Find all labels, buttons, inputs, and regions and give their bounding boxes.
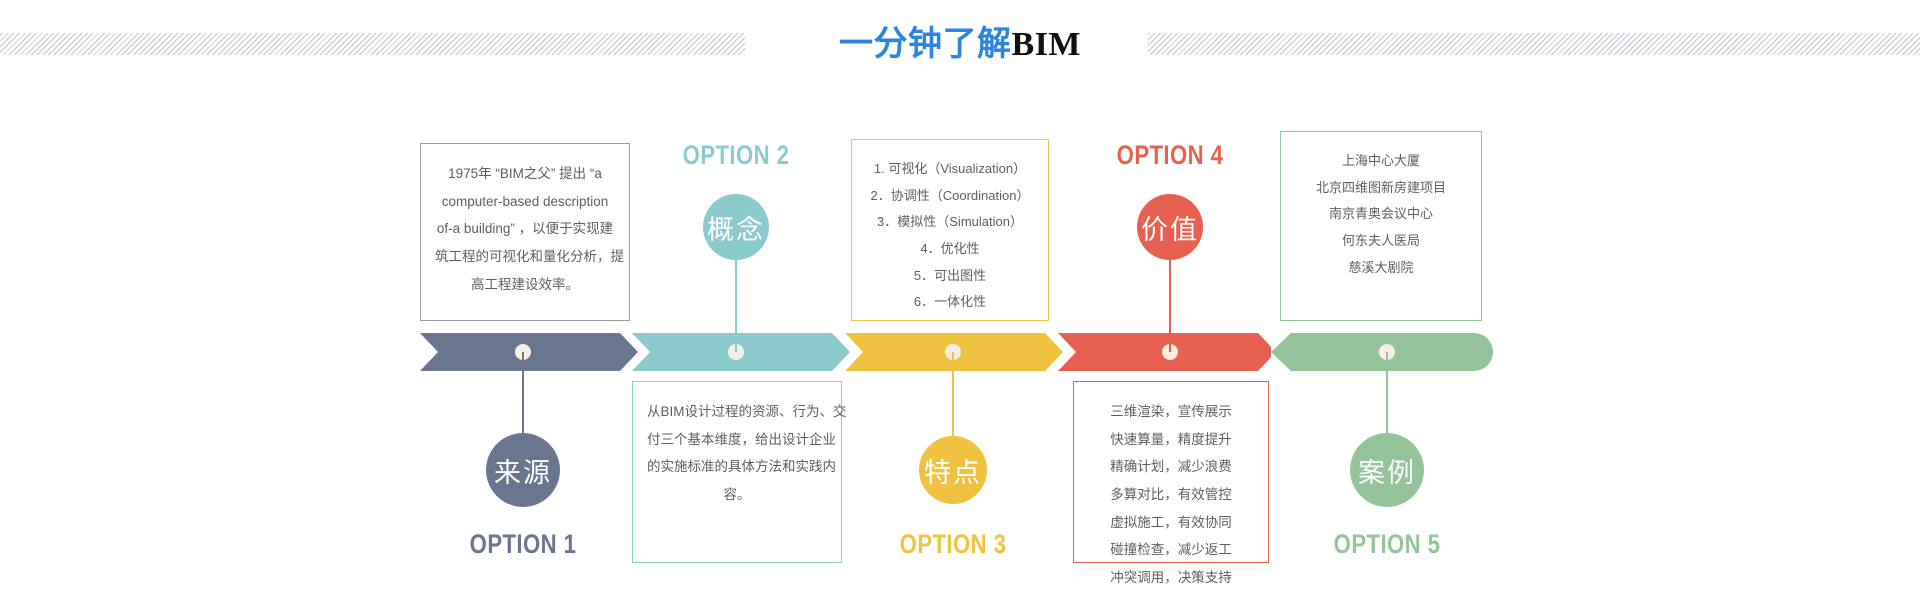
connector-line-4	[1169, 260, 1171, 352]
content-box-step-4: 三维渲染，宣传展示快速算量，精度提升精确计划，减少浪费多算对比，有效管控虚拟施工…	[1073, 381, 1269, 563]
connector-line-5	[1386, 352, 1388, 433]
connector-line-3	[952, 352, 954, 436]
content-line: 3．模拟性（Simulation）	[866, 209, 1034, 236]
content-line: 高工程建设效率。	[435, 271, 615, 299]
content-line: 的实施标准的具体方法和实践内	[647, 453, 827, 481]
page-title-cn: 一分钟了解	[839, 26, 1012, 63]
content-line: 南京青奥会议中心	[1295, 201, 1467, 228]
timeline-band	[0, 333, 1920, 371]
content-line: 慈溪大剧院	[1295, 255, 1467, 282]
option-label-1: OPTION 1	[433, 529, 613, 560]
content-line: 容。	[647, 481, 827, 509]
content-line: of-a building” ，以便于实现建	[435, 215, 615, 243]
content-line: 上海中心大厦	[1295, 148, 1467, 175]
content-line: 5．可出图性	[866, 263, 1034, 290]
content-line: 2．协调性（Coordination）	[866, 183, 1034, 210]
content-line: 多算对比，有效管控	[1088, 481, 1254, 509]
option-label-4: OPTION 4	[1080, 140, 1260, 171]
node-circle-step-2[interactable]: 概念	[703, 194, 769, 260]
content-line: 碰撞检查，减少返工	[1088, 536, 1254, 564]
content-box-step-3: 1. 可视化（Visualization）2．协调性（Coordination）…	[851, 139, 1049, 321]
option-label-2: OPTION 2	[646, 140, 826, 171]
connector-line-2	[735, 260, 737, 352]
content-line: 快速算量，精度提升	[1088, 426, 1254, 454]
node-circle-step-5[interactable]: 案例	[1350, 433, 1424, 507]
infographic-canvas: 一分钟了解BIM 1975年 “BIM之父” 提出 “acomputer-bas…	[0, 0, 1920, 600]
content-line: computer-based description	[435, 188, 615, 216]
content-line: 冲突调用，决策支持	[1088, 564, 1254, 592]
content-line: 付三个基本维度，给出设计企业	[647, 426, 827, 454]
content-line: 北京四维图新房建项目	[1295, 175, 1467, 202]
content-line: 筑工程的可视化和量化分析，提	[435, 243, 615, 271]
option-label-5: OPTION 5	[1297, 529, 1477, 560]
node-circle-step-4[interactable]: 价值	[1137, 194, 1203, 260]
content-line: 从BIM设计过程的资源、行为、交	[647, 398, 827, 426]
content-line: 1975年 “BIM之父” 提出 “a	[435, 160, 615, 188]
node-circle-step-3[interactable]: 特点	[919, 436, 987, 504]
page-title-latin: BIM	[1012, 26, 1082, 63]
content-line: 4．优化性	[866, 236, 1034, 263]
node-circle-step-1[interactable]: 来源	[486, 433, 560, 507]
option-label-3: OPTION 3	[863, 529, 1043, 560]
content-line: 1. 可视化（Visualization）	[866, 156, 1034, 183]
connector-line-1	[522, 352, 524, 433]
content-box-step-5: 上海中心大厦北京四维图新房建项目南京青奥会议中心何东夫人医局慈溪大剧院	[1280, 131, 1482, 321]
content-line: 6．一体化性	[866, 289, 1034, 316]
content-line: 何东夫人医局	[1295, 228, 1467, 255]
content-line: 精确计划，减少浪费	[1088, 453, 1254, 481]
content-line: 三维渲染，宣传展示	[1088, 398, 1254, 426]
content-box-step-2: 从BIM设计过程的资源、行为、交付三个基本维度，给出设计企业的实施标准的具体方法…	[632, 381, 842, 563]
page-title: 一分钟了解BIM	[0, 16, 1920, 65]
content-box-step-1: 1975年 “BIM之父” 提出 “acomputer-based descri…	[420, 143, 630, 321]
content-line: 虚拟施工，有效协同	[1088, 509, 1254, 537]
